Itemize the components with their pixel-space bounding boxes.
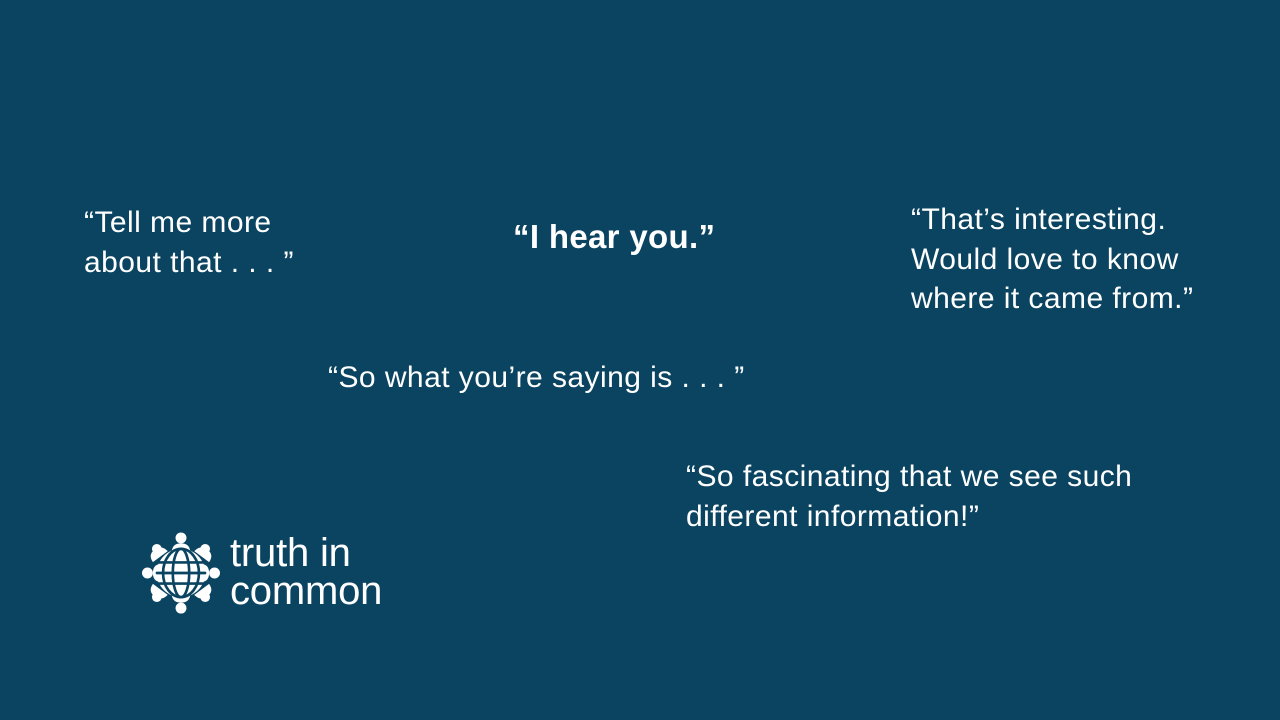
slide-canvas: “Tell me more about that . . . ” “I hear… xyxy=(0,0,1280,720)
quote-i-hear-you: “I hear you.” xyxy=(513,216,813,259)
brand-logo: truth in common xyxy=(142,532,382,614)
quote-so-fascinating: “So fascinating that we see such differe… xyxy=(686,457,1206,536)
globe-network-icon xyxy=(142,532,220,614)
quote-tell-me-more: “Tell me more about that . . . ” xyxy=(84,203,414,282)
quote-so-what-youre-saying: “So what you’re saying is . . . ” xyxy=(328,358,848,398)
logo-wordmark: truth in common xyxy=(230,534,382,613)
quote-thats-interesting: “That’s interesting. Would love to know … xyxy=(911,200,1251,319)
